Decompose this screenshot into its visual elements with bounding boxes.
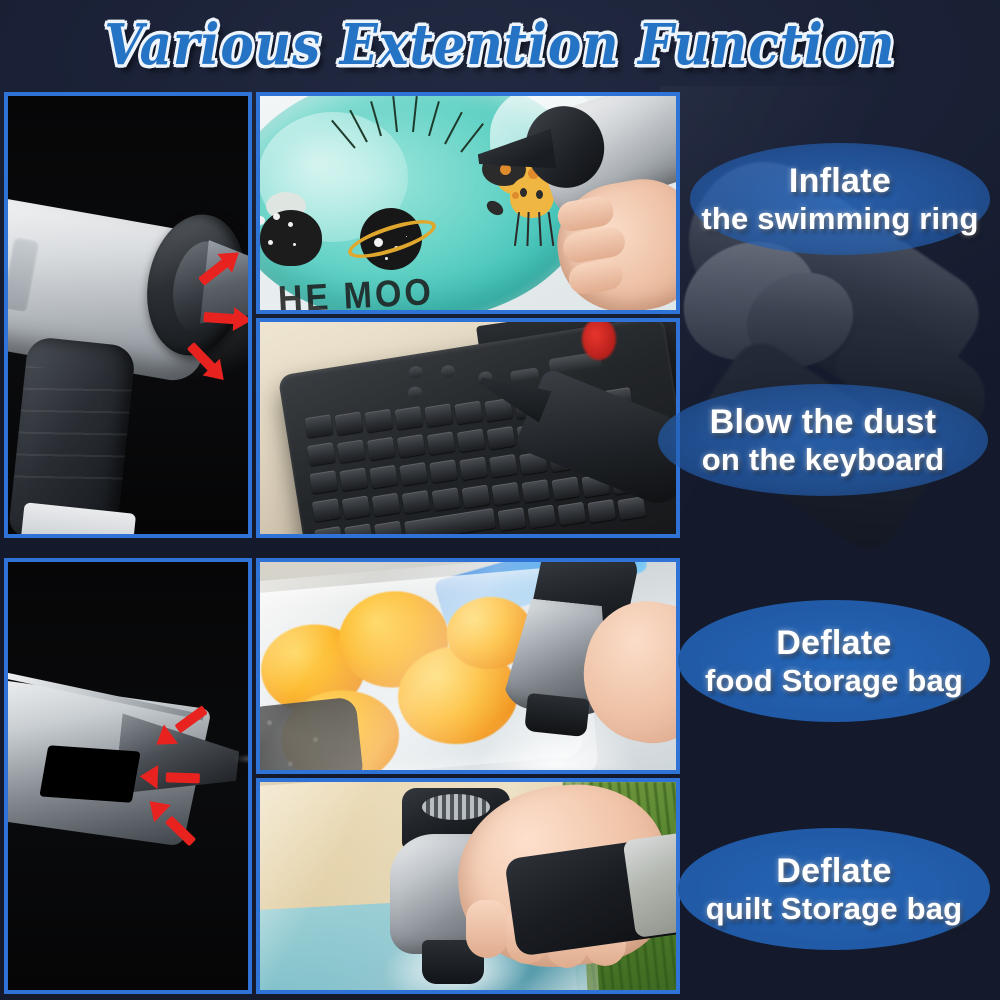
photo-panel-suction-nozzle[interactable] [4, 558, 252, 994]
callout-inflate-line1: Inflate [789, 164, 891, 199]
callout-blow-line2: on the keyboard [702, 444, 944, 476]
photo-keyboard [260, 322, 676, 534]
koala-print [256, 192, 338, 272]
photo-panel-food-bag[interactable] [256, 558, 680, 774]
photo-panel-keyboard[interactable] [256, 318, 680, 538]
photo-quilt-bag [260, 782, 676, 990]
callout-deflate-quilt-line1: Deflate [776, 854, 891, 889]
product-feature-poster: Various Extention Function [0, 0, 1000, 1000]
planet-print [360, 208, 422, 270]
callout-deflate-food: Deflate food Storage bag [678, 600, 990, 722]
photo-block-bottom [4, 558, 680, 994]
photo-blow-nozzle [8, 96, 248, 534]
callout-deflate-food-line2: food Storage bag [705, 665, 963, 697]
title-bar: Various Extention Function [0, 0, 1000, 88]
suction-air-stream [214, 704, 252, 854]
callout-inflate-line2: the swimming ring [701, 203, 978, 235]
photo-block-top: HE MOO [4, 92, 680, 538]
callout-blow: Blow the dust on the keyboard [658, 384, 988, 496]
photo-suction-nozzle [8, 562, 248, 990]
page-title: Various Extention Function [104, 11, 895, 77]
photo-panel-blow-nozzle[interactable] [4, 92, 252, 538]
swimming-ring-printed-text: HE MOO [277, 271, 435, 314]
callout-blow-line1: Blow the dust [710, 405, 937, 440]
callout-inflate: Inflate the swimming ring [690, 143, 990, 255]
callout-deflate-quilt: Deflate quilt Storage bag [678, 828, 990, 950]
photo-panel-swim-ring[interactable]: HE MOO [256, 92, 680, 314]
red-accent [582, 318, 616, 360]
photo-food-bag [260, 562, 676, 770]
callout-deflate-food-line1: Deflate [776, 626, 891, 661]
suction-nozzle-opening [39, 745, 140, 803]
callout-deflate-quilt-line2: quilt Storage bag [706, 893, 963, 925]
photo-swim-ring: HE MOO [260, 96, 676, 310]
photo-panel-quilt-bag[interactable] [256, 778, 680, 994]
